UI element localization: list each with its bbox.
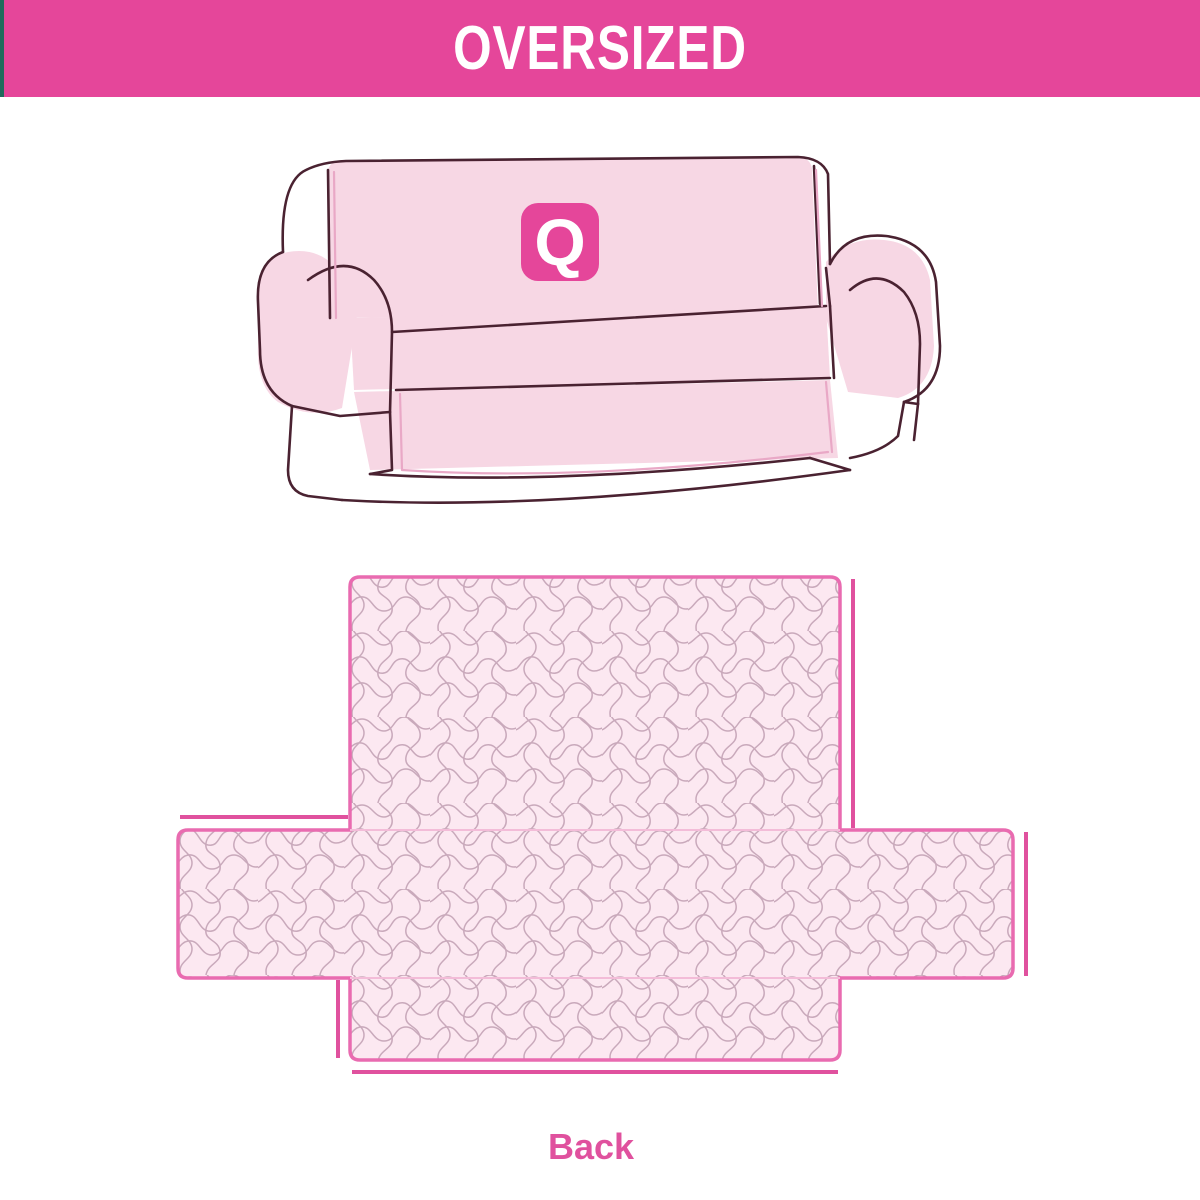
logo-letter: Q bbox=[534, 205, 585, 279]
label-back: Back bbox=[548, 1129, 634, 1165]
sofa-drawing-svg: Q bbox=[250, 140, 970, 510]
page-title: OVERSIZED bbox=[120, 0, 1080, 97]
header-accent-bar bbox=[0, 0, 4, 97]
dimension-diagram: Back 40” 24” 23” Armrest Armrest OVERSIZ… bbox=[0, 545, 1200, 1125]
header-banner: OVERSIZED bbox=[0, 0, 1200, 97]
sofa-seat-fill bbox=[350, 306, 830, 390]
sofa-illustration: Q bbox=[250, 140, 970, 510]
sofa-skirt-fill bbox=[354, 380, 838, 470]
infographic-page: OVERSIZED bbox=[0, 0, 1200, 1200]
dimension-diagram-svg bbox=[0, 545, 1200, 1125]
brand-logo-q: Q bbox=[521, 203, 599, 281]
